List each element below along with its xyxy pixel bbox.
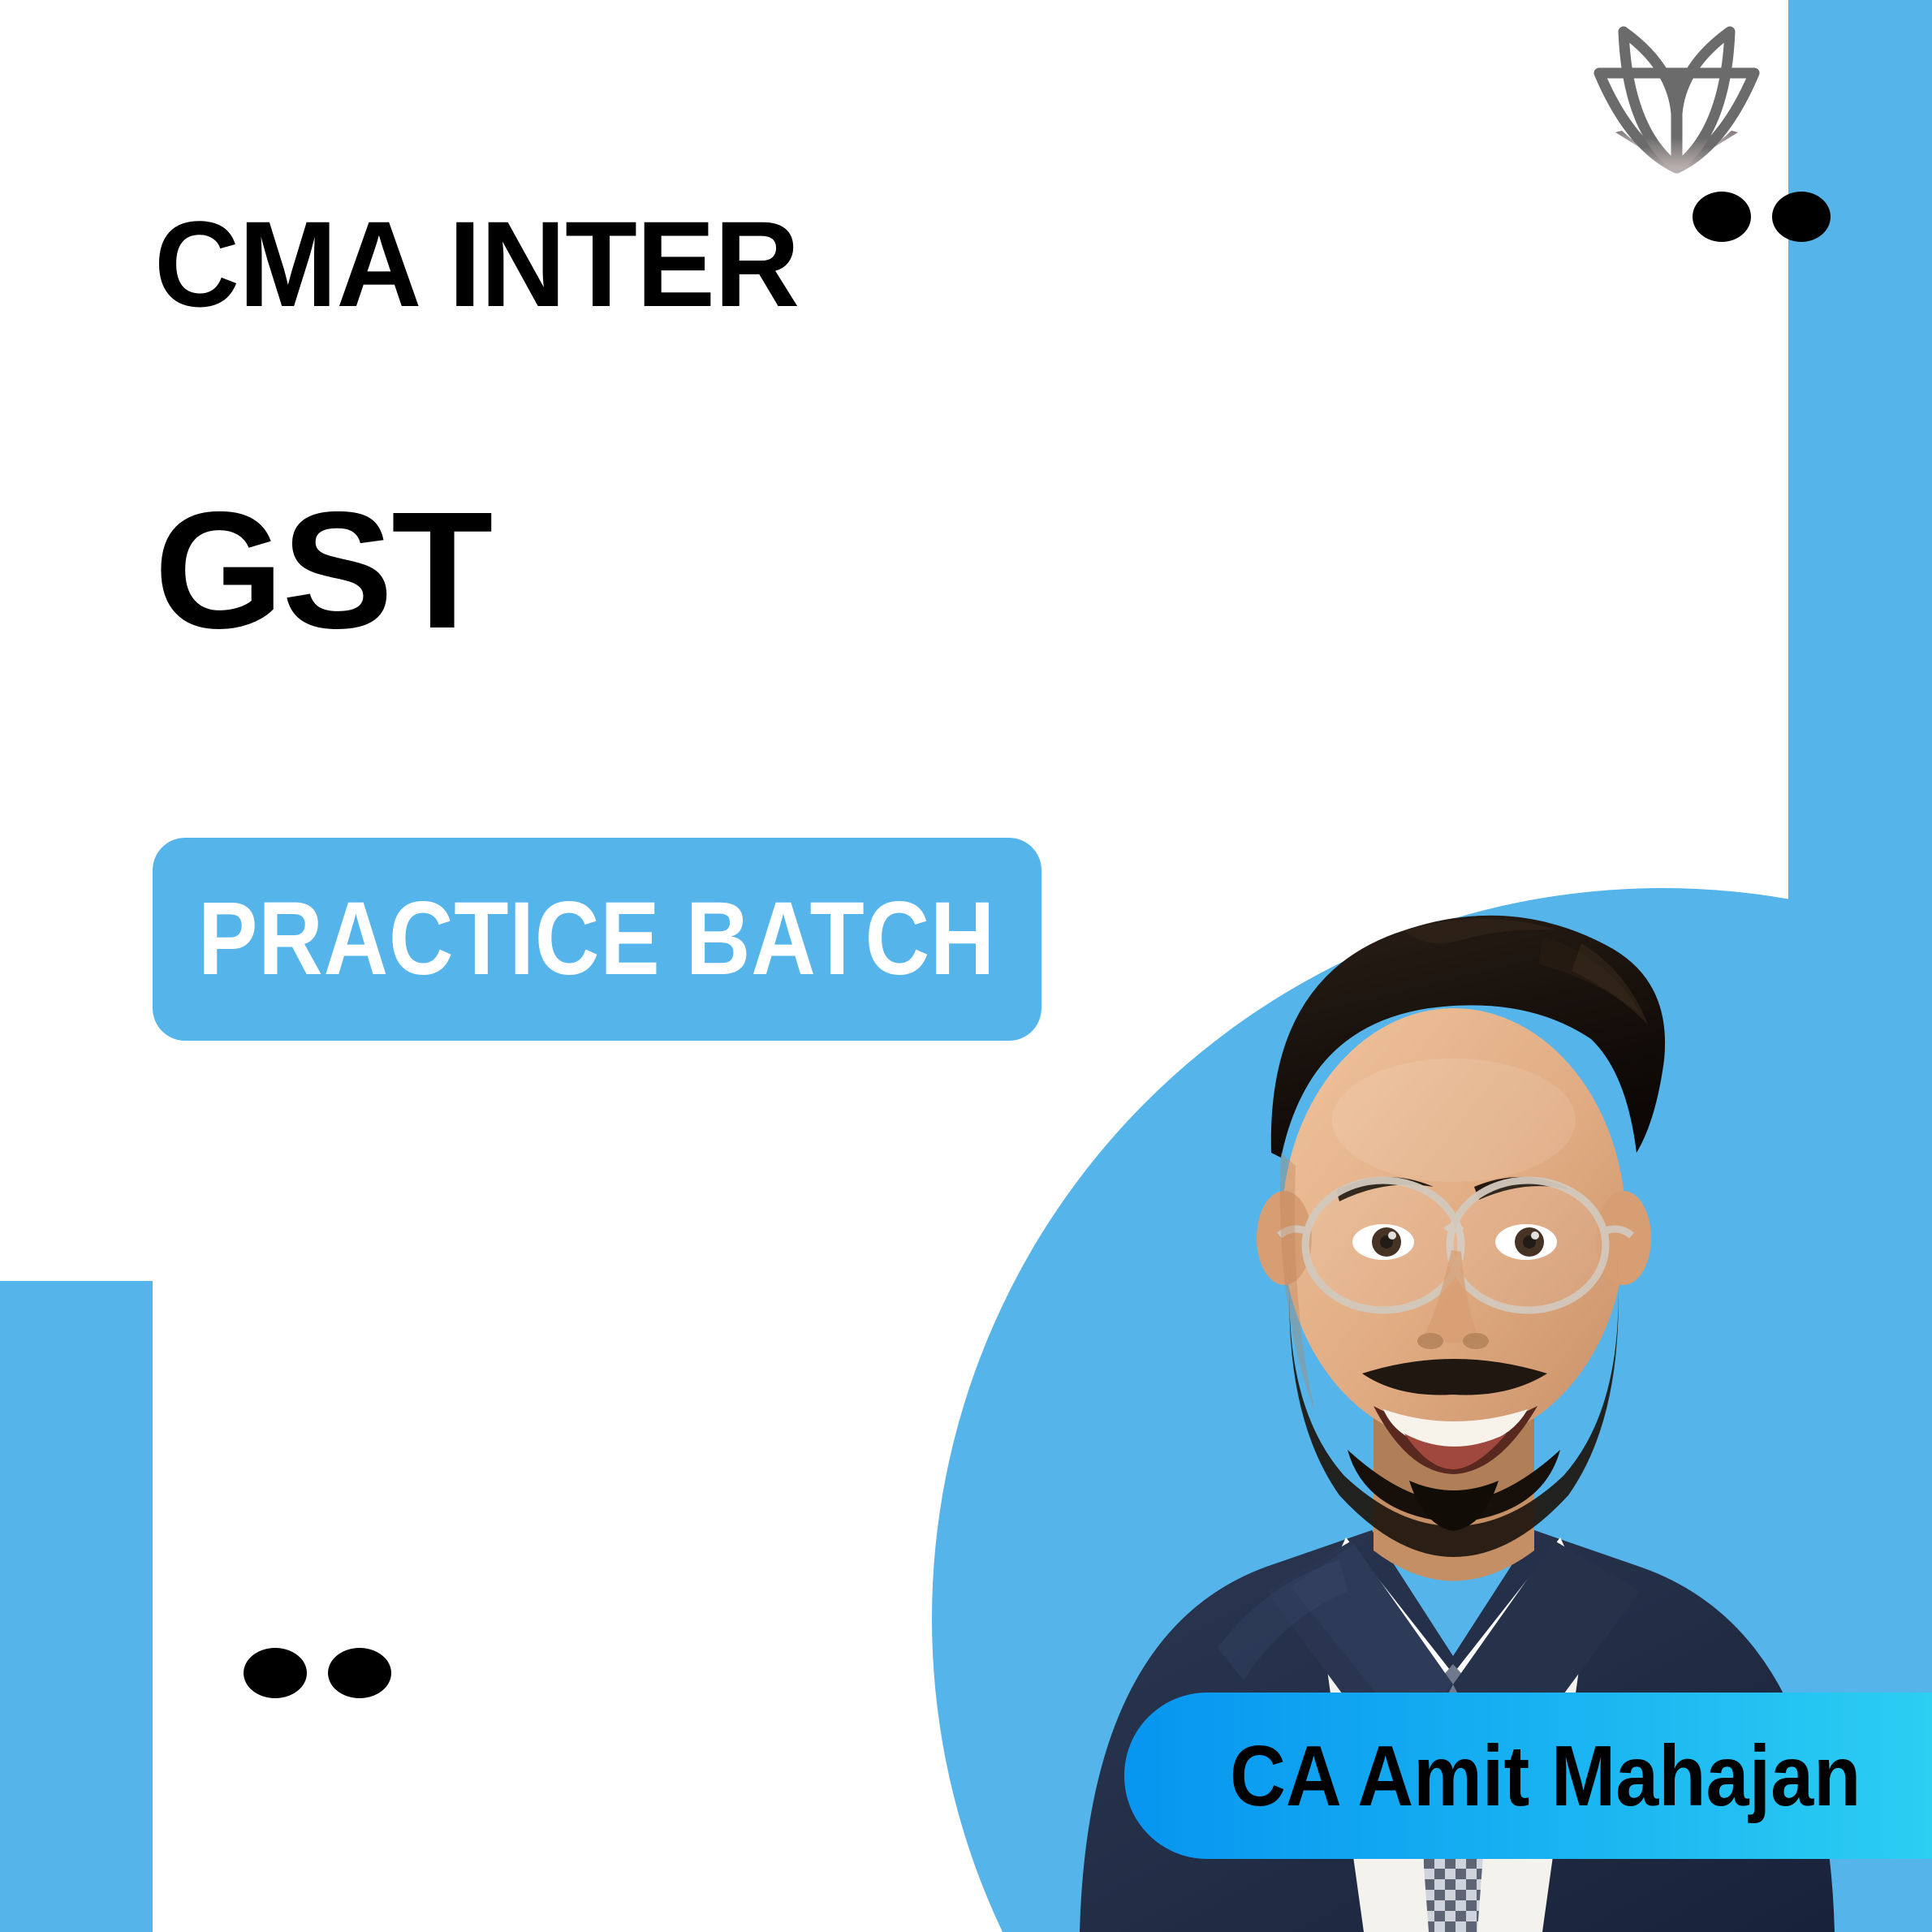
- background-strip-right: [1788, 0, 1932, 893]
- decor-accent-dots: [244, 1648, 391, 1698]
- background-block-bottom-left: [0, 1281, 153, 1932]
- instructor-name-badge: CA Amit Mahajan: [1124, 1693, 1932, 1859]
- accent-dot: [244, 1648, 307, 1698]
- instructor-name-label: CA Amit Mahajan: [1230, 1733, 1861, 1819]
- accent-dot: [1772, 192, 1831, 242]
- logo-accent-dots: [1693, 192, 1831, 242]
- batch-type-label: PRACTICE BATCH: [198, 887, 995, 991]
- subject-title-heading: GST: [154, 487, 491, 653]
- course-level-heading: CMA INTER: [154, 203, 799, 325]
- course-poster: CMA INTER GST PRACTICE BATCH: [0, 0, 1932, 1932]
- lotus-book-logo-icon: [1581, 24, 1772, 191]
- accent-dot: [1693, 192, 1751, 242]
- accent-dot: [328, 1648, 391, 1698]
- batch-type-banner: PRACTICE BATCH: [153, 838, 1041, 1041]
